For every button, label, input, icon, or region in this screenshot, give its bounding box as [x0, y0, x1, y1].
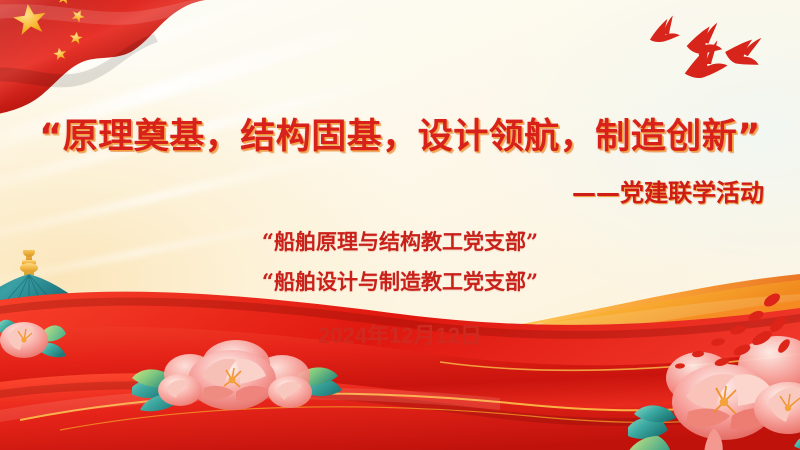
event-attribution: ——党建联学活动 — [572, 173, 764, 208]
branch-name-line-1: “船舶原理与结构教工党支部” — [0, 226, 800, 256]
branch-name-line-2: “船舶设计与制造教工党支部” — [0, 266, 800, 296]
party-building-event-poster: “原理奠基，结构固基，设计领航，制造创新” ——党建联学活动 “船舶原理与结构教… — [0, 0, 800, 450]
page-title: “原理奠基，结构固基，设计领航，制造创新” — [0, 108, 800, 159]
event-date: 2024年12月12日 — [0, 318, 800, 350]
poster-text-block: “原理奠基，结构固基，设计领航，制造创新” ——党建联学活动 “船舶原理与结构教… — [0, 0, 800, 450]
